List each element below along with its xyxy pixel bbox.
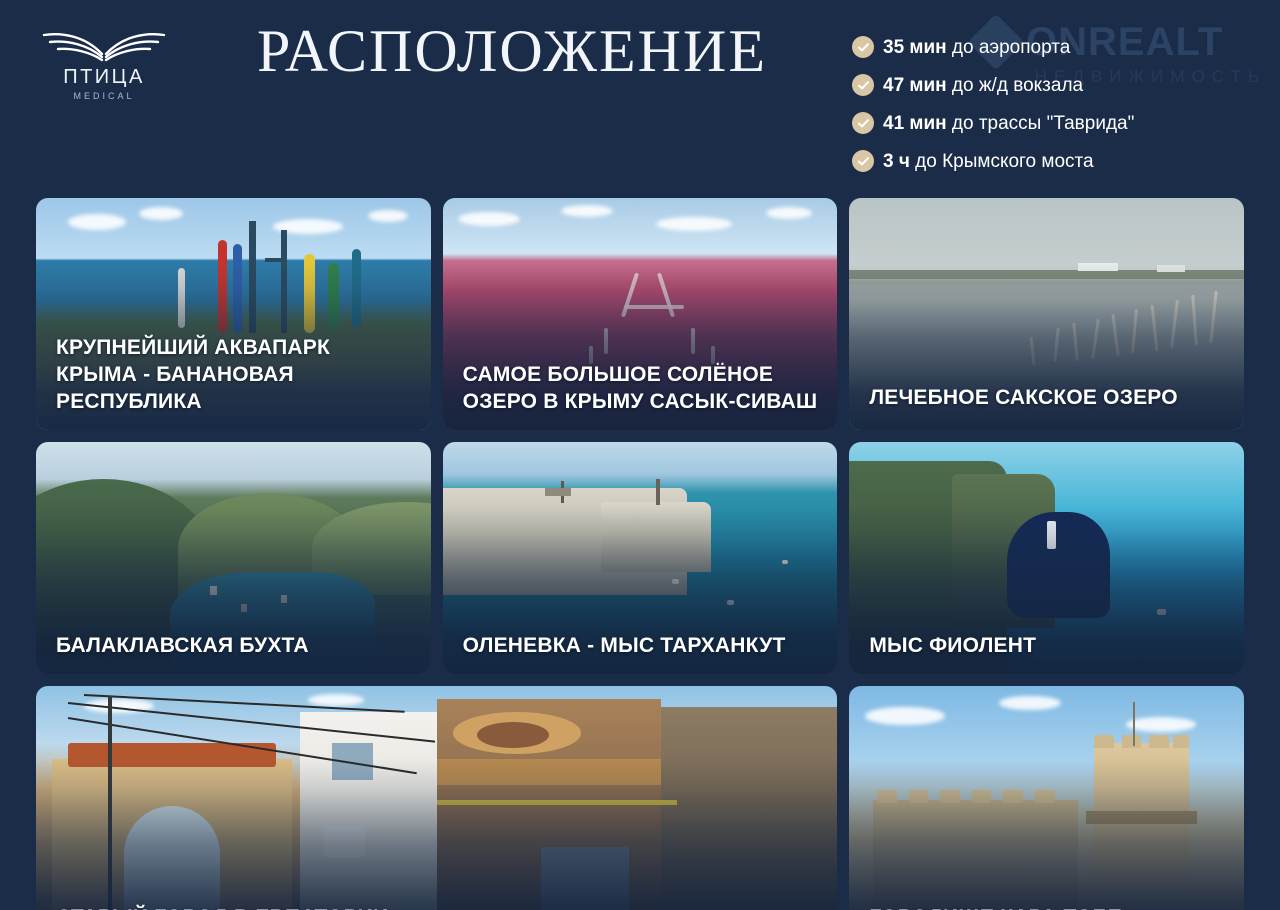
card-scrim [849, 759, 1244, 910]
check-circle-icon [852, 112, 874, 134]
location-card[interactable]: БАЛАКЛАВСКАЯ БУХТА [36, 442, 431, 674]
card-caption: БАЛАКЛАВСКАЯ БУХТА [56, 633, 417, 660]
locations-grid: КРУПНЕЙШИЙ АКВАПАРК КРЫМА - БАНАНОВАЯ РЕ… [36, 198, 1244, 910]
fact-label: до ж/д вокзала [947, 75, 1083, 96]
fact-text: 47 мин до ж/д вокзала [883, 76, 1083, 95]
fact-value: 35 мин [883, 37, 947, 58]
card-scrim [36, 759, 837, 910]
card-caption: САМОЕ БОЛЬШОЕ СОЛЁНОЕ ОЗЕРО В КРЫМУ САСЫ… [463, 362, 824, 416]
fact-text: 35 мин до аэропорта [883, 38, 1070, 57]
check-circle-icon [852, 74, 874, 96]
fact-value: 3 ч [883, 151, 910, 172]
brand-subtitle: MEDICAL [34, 92, 174, 101]
fact-text: 41 мин до трассы "Таврида" [883, 114, 1134, 133]
check-circle-icon [852, 36, 874, 58]
card-caption: МЫС ФИОЛЕНТ [869, 633, 1230, 660]
fact-label: до аэропорта [947, 37, 1071, 58]
brand-logo: ПТИЦА MEDICAL [34, 26, 174, 110]
location-slide: ONREALT НЕДВИЖИМОСТЬ ПТИЦА MEDICAL РАСПО… [0, 0, 1280, 910]
fact-item: 35 мин до аэропорта [852, 28, 1272, 66]
facts-list: 35 мин до аэропорта 47 мин до ж/д вокзал… [852, 28, 1272, 180]
location-card[interactable]: ОЛЕНЕВКА - МЫС ТАРХАНКУТ [443, 442, 838, 674]
location-card[interactable]: СТАРЫЙ ГОРОД В ЕВПАТОРИИ [36, 686, 837, 910]
location-card[interactable]: ГОРОДИЩЕ КАРА-ТОБЕ [849, 686, 1244, 910]
fact-item: 41 мин до трассы "Таврида" [852, 104, 1272, 142]
location-card[interactable]: САМОЕ БОЛЬШОЕ СОЛЁНОЕ ОЗЕРО В КРЫМУ САСЫ… [443, 198, 838, 430]
brand-name: ПТИЦА [34, 67, 174, 87]
page-title: РАСПОЛОЖЕНИЕ [212, 18, 812, 84]
fact-item: 47 мин до ж/д вокзала [852, 66, 1272, 104]
fact-value: 41 мин [883, 113, 947, 134]
bird-wings-icon [40, 26, 168, 66]
check-circle-icon [852, 150, 874, 172]
fact-label: до Крымского моста [910, 151, 1094, 172]
fact-value: 47 мин [883, 75, 947, 96]
card-caption: КРУПНЕЙШИЙ АКВАПАРК КРЫМА - БАНАНОВАЯ РЕ… [56, 335, 417, 416]
slide-header: ПТИЦА MEDICAL РАСПОЛОЖЕНИЕ 35 мин до аэр… [0, 0, 1280, 190]
fact-label: до трассы "Таврида" [947, 113, 1135, 134]
fact-text: 3 ч до Крымского моста [883, 152, 1094, 171]
location-card[interactable]: КРУПНЕЙШИЙ АКВАПАРК КРЫМА - БАНАНОВАЯ РЕ… [36, 198, 431, 430]
card-caption: ГОРОДИЩЕ КАРА-ТОБЕ [869, 905, 1230, 910]
fact-item: 3 ч до Крымского моста [852, 142, 1272, 180]
location-card[interactable]: МЫС ФИОЛЕНТ [849, 442, 1244, 674]
location-card[interactable]: ЛЕЧЕБНОЕ САКСКОЕ ОЗЕРО [849, 198, 1244, 430]
card-caption: ЛЕЧЕБНОЕ САКСКОЕ ОЗЕРО [869, 385, 1230, 412]
card-caption: СТАРЫЙ ГОРОД В ЕВПАТОРИИ [56, 905, 823, 910]
card-caption: ОЛЕНЕВКА - МЫС ТАРХАНКУТ [463, 633, 824, 660]
